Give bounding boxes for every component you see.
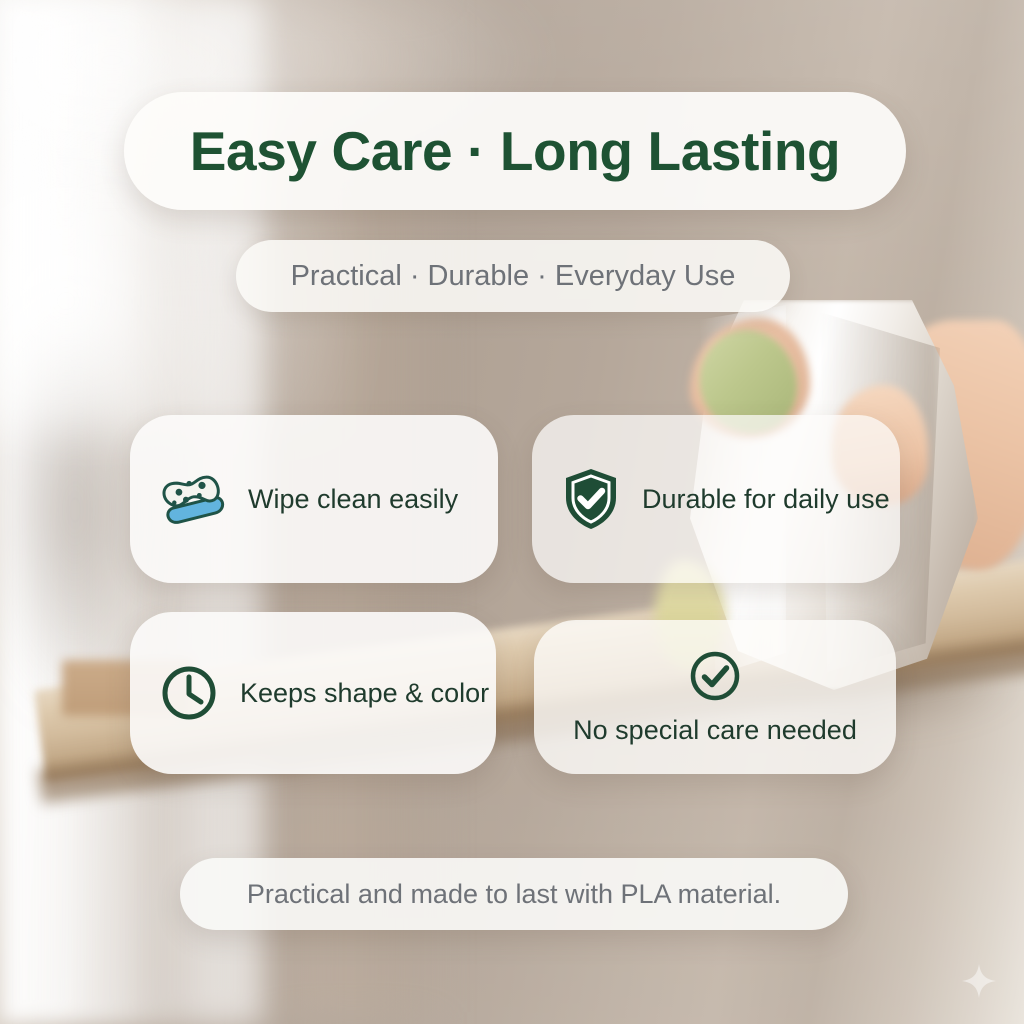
feature-card-durable[interactable]: Durable for daily use xyxy=(532,415,900,583)
headline-pill: Easy Care · Long Lasting xyxy=(124,92,906,210)
feature-card-wipe[interactable]: Wipe clean easily xyxy=(130,415,498,583)
shield-check-icon xyxy=(562,467,620,531)
feature-label-shape: Keeps shape & color xyxy=(240,678,489,709)
feature-label-durable: Durable for daily use xyxy=(642,484,890,515)
sponge-icon xyxy=(160,473,226,525)
feature-card-shape[interactable]: Keeps shape & color xyxy=(130,612,496,774)
check-circle-icon xyxy=(688,649,742,703)
promo-poster: Easy Care · Long Lasting Practical · Dur… xyxy=(0,0,1024,1024)
footer-pill: Practical and made to last with PLA mate… xyxy=(180,858,848,930)
page-title: Easy Care · Long Lasting xyxy=(190,119,841,183)
page-subtitle: Practical · Durable · Everyday Use xyxy=(291,260,736,293)
feature-label-nocare: No special care needed xyxy=(573,715,857,746)
footer-note: Practical and made to last with PLA mate… xyxy=(247,879,781,910)
clock-icon xyxy=(160,664,218,722)
feature-label-wipe: Wipe clean easily xyxy=(248,484,458,515)
sparkle-icon xyxy=(962,964,996,998)
subtitle-pill: Practical · Durable · Everyday Use xyxy=(236,240,790,312)
overlay-content: Easy Care · Long Lasting Practical · Dur… xyxy=(0,0,1024,1024)
feature-card-nocare[interactable]: No special care needed xyxy=(534,620,896,774)
